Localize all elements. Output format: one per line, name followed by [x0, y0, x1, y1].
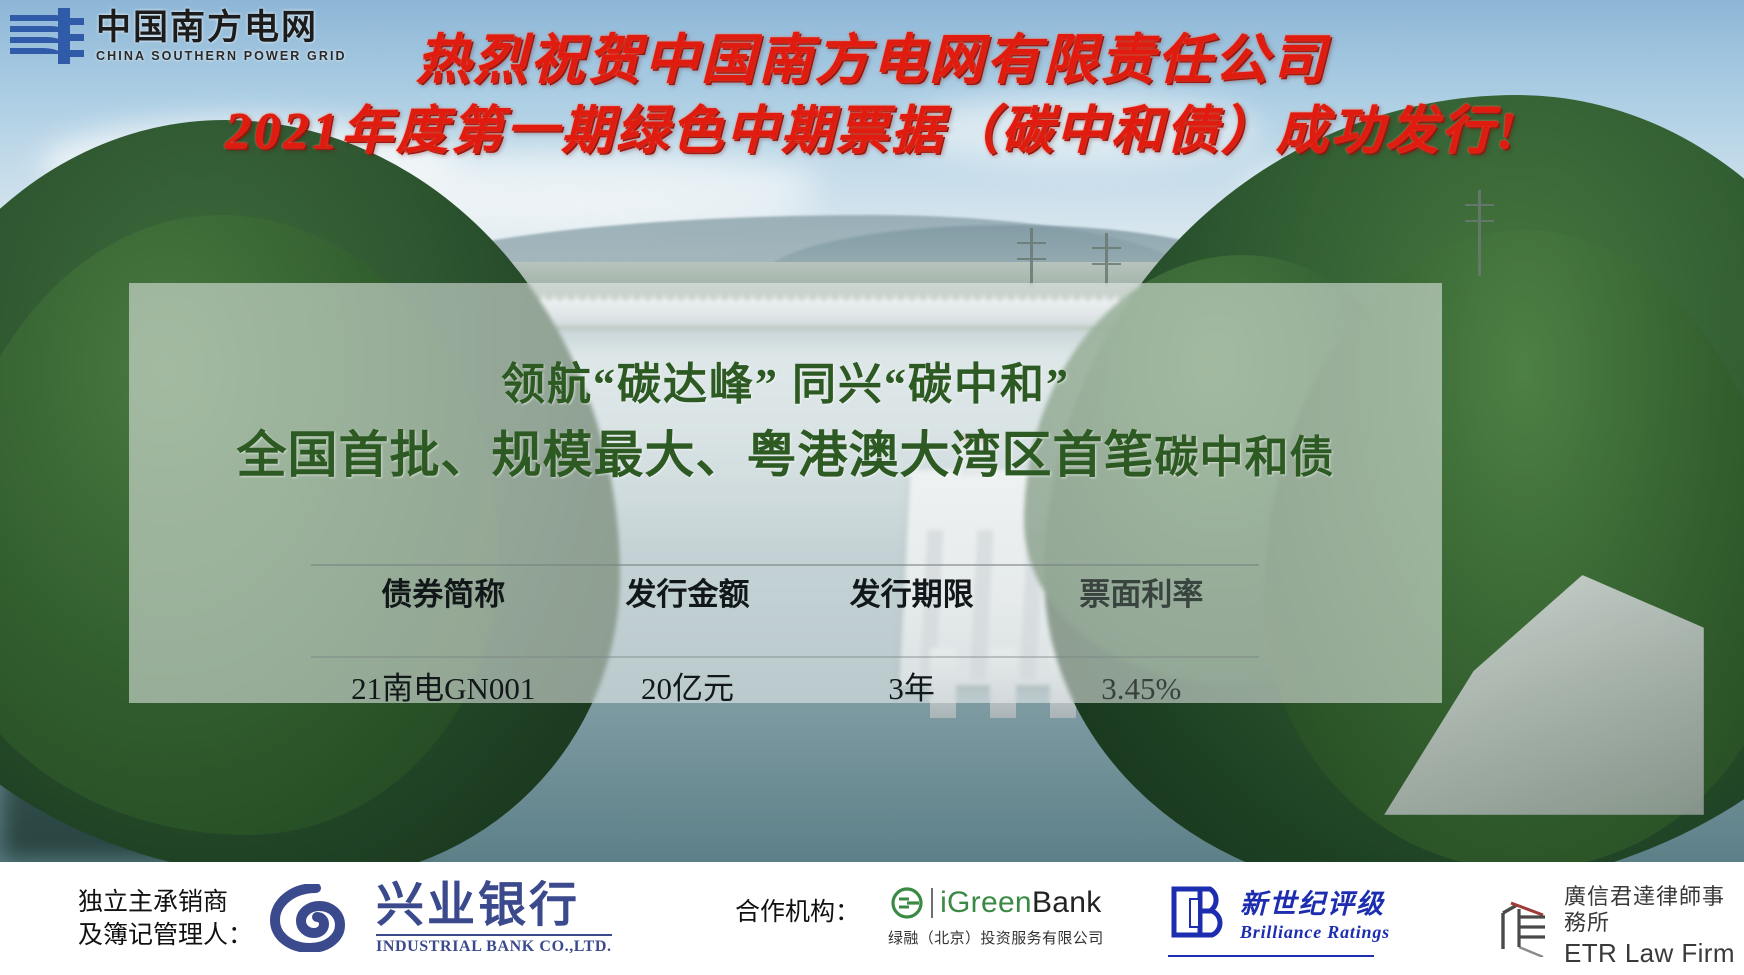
- etr-law-firm-logo-icon: [1497, 895, 1553, 957]
- brilliance-ratings-logo: 新世纪评级 Brilliance Ratings: [1170, 882, 1390, 943]
- etr-wordmark: 廣信君達律師事務所 ETR Law Firm: [1564, 884, 1744, 968]
- industrial-bank-cn: 兴业银行: [376, 880, 612, 932]
- partners-label: 合作机构：: [735, 896, 860, 929]
- igreenbank-wordmark-row: iGreenBank: [888, 886, 1104, 920]
- cloud: [900, 95, 1260, 165]
- panel-claim-tail: 碳中和债: [1155, 433, 1335, 482]
- content-panel: 领航“碳达峰” 同兴“碳中和” 全国首批、规模最大、粤港澳大湾区首笔碳中和债 债…: [129, 283, 1442, 703]
- underwriter-label: 独立主承销商 及簿记管理人：: [78, 886, 253, 952]
- cspg-logo-en: CHINA SOUTHERN POWER GRID: [96, 50, 347, 63]
- igreenbank-divider: [931, 888, 933, 918]
- bond-details-table: 债券简称 发行金额 发行期限 票面利率 21南电GN001 20亿元 3年 3.…: [311, 564, 1259, 748]
- transmission-pylon-icon: [1030, 228, 1033, 286]
- panel-claim: 全国首批、规模最大、粤港澳大湾区首笔碳中和债: [129, 425, 1442, 488]
- panel-slogan: 领航“碳达峰” 同兴“碳中和”: [129, 359, 1442, 411]
- cspg-logo-text: 中国南方电网 CHINA SOUTHERN POWER GRID: [96, 10, 347, 63]
- industrial-bank-en: INDUSTRIAL BANK CO.,LTD.: [376, 934, 612, 956]
- table-value-coupon-rate: 3.45%: [1024, 658, 1259, 738]
- table-header-bond-name: 债券简称: [311, 566, 575, 656]
- industrial-bank-logo: 兴业银行 INDUSTRIAL BANK CO.,LTD.: [270, 880, 612, 956]
- poster-root: 中国南方电网 CHINA SOUTHERN POWER GRID 热烈祝贺中国南…: [0, 0, 1744, 975]
- industrial-bank-swirl-logo-icon: [270, 884, 362, 952]
- etr-law-firm-logo: 廣信君達律師事務所 ETR Law Firm: [1497, 884, 1744, 968]
- etr-cn: 廣信君達律師事務所: [1564, 884, 1744, 936]
- igreenbank-logo-icon: [890, 886, 924, 920]
- cspg-logo-cn: 中国南方电网: [96, 10, 347, 45]
- panel-claim-main: 全国首批、规模最大、粤港澳大湾区首笔: [237, 427, 1155, 483]
- brilliance-cn: 新世纪评级: [1240, 882, 1390, 921]
- igreenbank-subtitle: 绿融（北京）投资服务有限公司: [888, 927, 1104, 948]
- igreenbank-name-dark: Bank: [1032, 886, 1102, 919]
- brilliance-ratings-logo-icon: [1170, 883, 1232, 943]
- igreenbank-logo: iGreenBank 绿融（北京）投资服务有限公司: [888, 886, 1104, 948]
- table-header-row: 债券简称 发行金额 发行期限 票面利率: [311, 566, 1259, 656]
- table-header-issue-term: 发行期限: [800, 566, 1024, 656]
- brilliance-underline: [1168, 955, 1374, 957]
- etr-en: ETR Law Firm: [1564, 938, 1744, 968]
- table-header-issue-amount: 发行金额: [575, 566, 799, 656]
- brilliance-en: Brilliance Ratings: [1240, 922, 1390, 943]
- table-value-issue-term: 3年: [800, 658, 1024, 748]
- brilliance-wordmark: 新世纪评级 Brilliance Ratings: [1240, 882, 1390, 943]
- footer-bar: 独立主承销商 及簿记管理人： 兴业银行 INDUSTRIAL BANK CO.,…: [0, 862, 1744, 975]
- table-value-issue-amount: 20亿元: [575, 658, 799, 748]
- table-value-bond-name: 21南电GN001: [311, 658, 575, 748]
- power-grid-logo-icon: [8, 6, 86, 66]
- industrial-bank-wordmark: 兴业银行 INDUSTRIAL BANK CO.,LTD.: [376, 880, 612, 956]
- transmission-pylon-icon: [1105, 233, 1108, 285]
- igreenbank-name: iGreenBank: [940, 886, 1101, 920]
- igreenbank-name-green: iGreen: [940, 886, 1032, 919]
- transmission-pylon-icon: [1478, 190, 1481, 276]
- table-value-row: 21南电GN001 20亿元 3年 3.45%: [311, 658, 1259, 748]
- underwriter-label-line-1: 独立主承销商: [78, 886, 253, 919]
- cspg-logo: 中国南方电网 CHINA SOUTHERN POWER GRID: [8, 6, 347, 66]
- underwriter-label-line-2: 及簿记管理人：: [78, 919, 253, 952]
- table-header-coupon-rate: 票面利率: [1024, 566, 1259, 646]
